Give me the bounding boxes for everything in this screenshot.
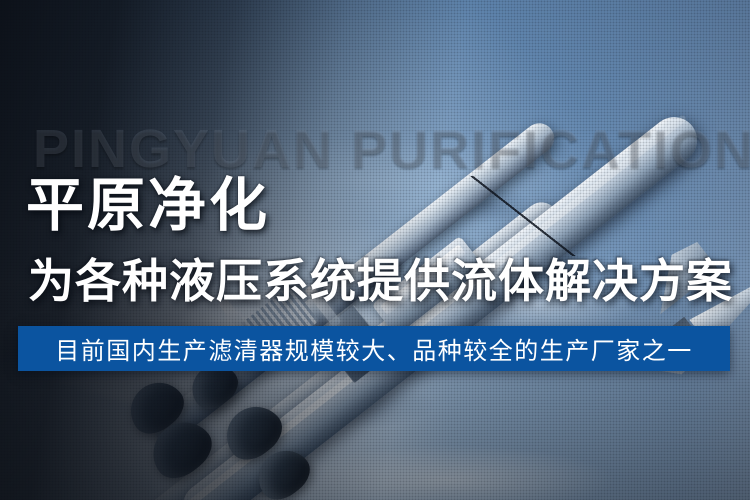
page-subtitle: 为各种液压系统提供流体解决方案 bbox=[28, 258, 733, 304]
bottom-vignette bbox=[0, 0, 750, 500]
tagline-ribbon: 目前国内生产滤清器规模较大、品种较全的生产厂家之一 bbox=[18, 326, 730, 371]
promo-banner: PINGYUAN PURIFICATION 平原净化 为各种液压系统提供流体解决… bbox=[0, 0, 750, 500]
page-title: 平原净化 bbox=[26, 176, 270, 234]
tagline-text: 目前国内生产滤清器规模较大、品种较全的生产厂家之一 bbox=[55, 331, 693, 366]
